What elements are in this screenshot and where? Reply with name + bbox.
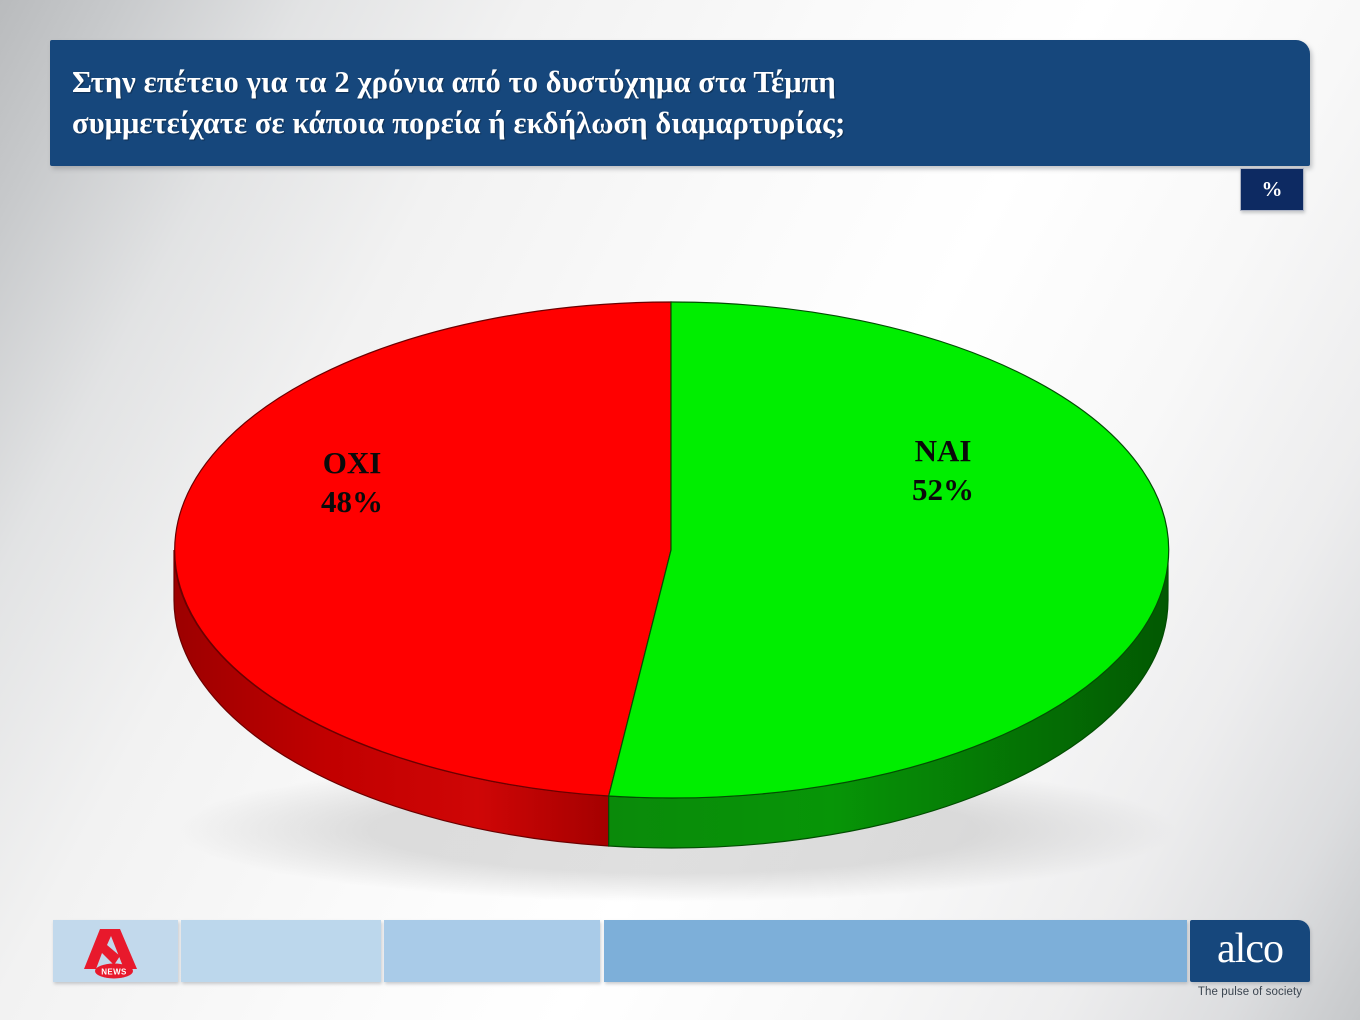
percent-unit-label: % [1262,179,1283,200]
footer-block-2 [181,920,381,982]
footer-block-3 [384,920,600,982]
alpha-news-logo-text: NEWS [101,968,127,977]
footer-block-4 [604,920,1187,982]
pie-slice-no [175,302,671,796]
pie-label-yes-name: ΝΑΙ [915,433,972,468]
pie-label-yes: ΝΑΙ 52% [912,433,974,507]
alco-tagline: The pulse of society [1190,986,1310,998]
alco-logo-wordmark: alco [1217,928,1283,974]
footer-bar: NEWS alco The pulse of society [0,920,1360,1020]
alco-logo: alco [1190,920,1310,982]
pie-label-no-value: 48% [321,484,383,519]
pie-label-no: ΟΧΙ 48% [321,445,383,519]
percent-unit-badge: % [1240,168,1304,211]
alpha-news-logo-icon: NEWS [80,925,152,979]
pie-slice-yes [609,302,1169,798]
slide-canvas: Στην επέτειο για τα 2 χρόνια από το δυστ… [0,0,1360,1020]
page-title: Στην επέτειο για τα 2 χρόνια από το δυστ… [72,62,1284,145]
pie-label-yes-value: 52% [912,472,974,507]
pie-side-wall-yes [609,550,1168,848]
pie-side-wall-no [174,550,609,846]
pie-shadow [176,758,1176,902]
question-title-bar: Στην επέτειο για τα 2 χρόνια από το δυστ… [50,40,1310,166]
pie-label-no-name: ΟΧΙ [323,445,382,480]
